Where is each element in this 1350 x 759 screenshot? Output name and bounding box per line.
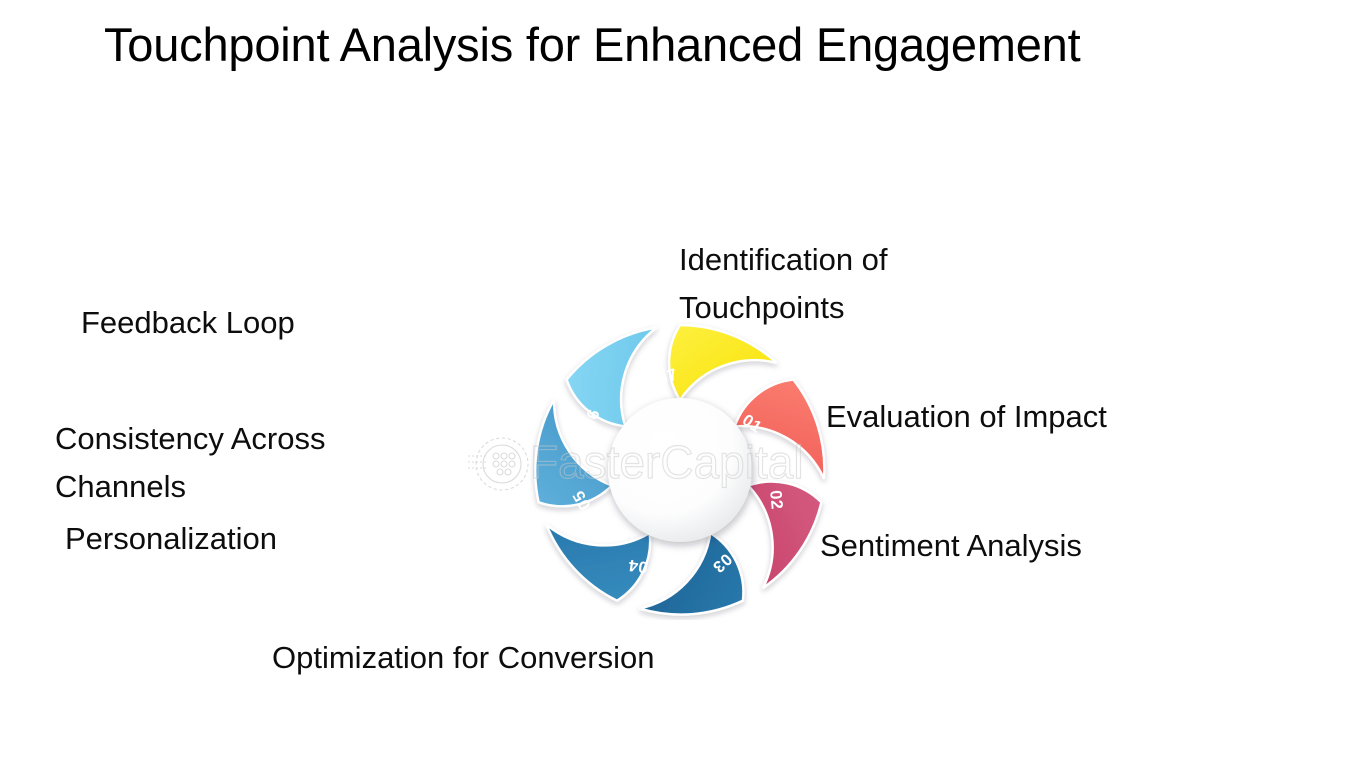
touchpoint-pinwheel-chart: 01 02 03 04 05 06 07 [530, 320, 830, 620]
callout-personalization: Personalization [65, 515, 485, 563]
pinwheel-diagram: 01 02 03 04 05 06 07 FasterCapital Ident… [0, 0, 1350, 759]
callout-sentiment-analysis: Sentiment Analysis [820, 522, 1220, 570]
callout-optimization-for-conversion: Optimization for Conversion [272, 634, 832, 682]
callout-evaluation-of-impact: Evaluation of Impact [826, 393, 1226, 441]
callout-consistency-across-channels: Consistency Across Channels [55, 415, 485, 511]
callout-identification-of-touchpoints: Identification of Touchpoints [679, 236, 1009, 332]
segment-number-02: 02 [766, 489, 786, 510]
pinwheel-hub [608, 398, 752, 542]
segment-number-04: 04 [627, 556, 649, 577]
callout-feedback-loop: Feedback Loop [81, 299, 481, 347]
pinwheel-segment-01[interactable] [669, 325, 777, 400]
